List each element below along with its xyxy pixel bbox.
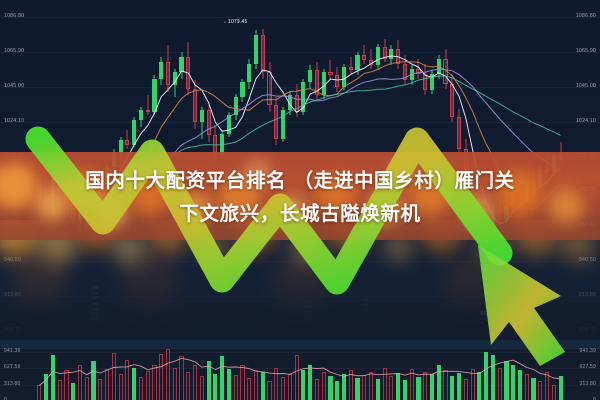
candle-body [362, 55, 366, 60]
volume-bar [511, 365, 515, 400]
candle-body [193, 89, 197, 122]
high-price-annotation: ←1079.45 [223, 19, 248, 25]
headline-line-2: 下文旅兴，长城古隘焕新机 [0, 197, 600, 230]
price-tick-right: 1045.00 [576, 84, 596, 89]
volume-bar [207, 361, 211, 400]
price-tick-right: 1065.90 [576, 49, 596, 54]
candle-body [349, 67, 353, 70]
candle-body [261, 35, 265, 72]
gridline [0, 352, 600, 353]
volume-bar [51, 355, 55, 400]
ghost-axis-left: 1,201,101,000,900,800,700,600,500,400,30 [82, 286, 98, 338]
candle-body [186, 57, 190, 89]
volume-tick-right: 627.59 [580, 365, 597, 370]
volume-ma-line [0, 349, 600, 400]
candle-body [240, 82, 244, 97]
volume-bar [227, 369, 231, 400]
candle-body [383, 47, 387, 59]
stock-chart-banner-image: 1086.801065.901045.001024.101003.20982.3… [0, 0, 600, 400]
volume-bar [335, 381, 339, 400]
volume-bar [471, 369, 475, 400]
candle-body [396, 49, 400, 64]
ghost-axis-label: 0,30 [82, 333, 98, 338]
volume-bar [430, 374, 434, 400]
candle-body [389, 49, 393, 59]
candle-body [295, 95, 299, 112]
volume-bar [477, 372, 481, 400]
headline-line-1: 国内十大配资平台排名 （走进中国乡村）雁门关 [0, 164, 600, 197]
volume-bar [484, 352, 488, 400]
volume-bar [538, 381, 542, 400]
volume-bar [58, 380, 62, 400]
volume-bar [139, 377, 143, 400]
volume-bar [200, 376, 204, 400]
volume-bar [301, 370, 305, 400]
price-tick-right: 919.60 [579, 293, 596, 298]
candle-body [132, 120, 136, 145]
volume-bar [125, 360, 129, 400]
volume-bar [328, 376, 332, 400]
price-tick-left: 1024.10 [4, 119, 24, 124]
volume-bar [64, 370, 68, 400]
ghost-axis-middle-2: 0,900,800,70 [352, 298, 368, 314]
volume-bar [78, 365, 82, 400]
volume-bar [518, 370, 522, 400]
candle-body [443, 59, 447, 84]
volume-bar [457, 373, 461, 400]
volume-bar [186, 372, 190, 400]
candle-body [315, 70, 319, 95]
candle-body [247, 64, 251, 82]
gridline [0, 17, 600, 18]
volume-bar [349, 370, 353, 400]
volume-bar [91, 361, 95, 400]
volume-bar [193, 365, 197, 400]
volume-bar [179, 356, 183, 400]
candle-body [119, 140, 123, 152]
volume-bar [132, 368, 136, 400]
candle-wick [371, 49, 372, 69]
volume-bar [355, 378, 359, 400]
gridline [0, 385, 600, 386]
ghost-axis-label: 0,90 [296, 310, 312, 315]
candle-body [200, 110, 204, 122]
volume-chart-panel: 941.39627.59313.800 941.39627.59313.800 [0, 348, 600, 400]
candle-body [166, 62, 170, 85]
volume-bar [166, 349, 170, 400]
volume-bar [112, 353, 116, 400]
candle-wick [330, 60, 331, 78]
volume-bar [119, 374, 123, 400]
candle-body [227, 115, 231, 133]
volume-bar [552, 385, 556, 400]
volume-bar [71, 383, 75, 400]
volume-bar [545, 372, 549, 400]
candle-body [450, 84, 454, 117]
price-tick-right: 898.70 [579, 328, 596, 333]
volume-bar [247, 378, 251, 400]
volume-bar [525, 374, 529, 400]
volume-tick-left: 627.59 [4, 365, 21, 370]
volume-bar [308, 365, 312, 400]
volume-bar [437, 365, 441, 400]
volume-tick-left: 941.39 [4, 349, 21, 354]
volume-bar [98, 379, 102, 400]
volume-bar [44, 374, 48, 400]
volume-tick-left: 313.80 [4, 382, 21, 387]
volume-bar [389, 376, 393, 400]
volume-bar [254, 370, 258, 400]
gridline [0, 368, 600, 369]
candle-body [335, 75, 339, 87]
price-tick-left: 898.70 [4, 328, 21, 333]
candle-body [430, 74, 434, 91]
price-tick-right: 940.50 [579, 258, 596, 263]
candle-body [369, 60, 373, 65]
candle-body [423, 74, 427, 91]
candle-body [179, 57, 183, 72]
volume-bar [322, 372, 326, 400]
gridline [0, 122, 600, 123]
volume-tick-right: 941.39 [580, 349, 597, 354]
low-price-annotation: 912.28 → [480, 311, 503, 317]
price-tick-left: 1065.90 [4, 49, 24, 54]
volume-tick-right: 313.80 [580, 382, 597, 387]
candle-body [437, 59, 441, 74]
gridline [0, 52, 600, 53]
volume-bar [504, 361, 508, 400]
volume-bar [261, 372, 265, 400]
volume-bar [369, 372, 373, 400]
candle-body [403, 64, 407, 81]
candle-wick [350, 57, 351, 74]
candle-body [342, 67, 346, 87]
volume-bar [443, 370, 447, 400]
candle-body [301, 82, 305, 112]
volume-bar [315, 379, 319, 400]
volume-bar [491, 355, 495, 400]
volume-bar [152, 365, 156, 400]
volume-bar [423, 372, 427, 400]
gridline [0, 87, 600, 88]
candle-body [328, 72, 332, 75]
price-tick-left: 1045.00 [4, 84, 24, 89]
gridline [0, 261, 600, 262]
candle-body [159, 62, 163, 79]
candle-body [173, 72, 177, 85]
candle-body [322, 72, 326, 95]
candle-body [308, 70, 312, 82]
volume-bar [559, 376, 563, 400]
volume-bar [295, 355, 299, 400]
volume-bar [159, 354, 163, 400]
candle-body [410, 69, 414, 81]
candle-body [288, 95, 292, 110]
price-tick-left: 919.60 [4, 293, 21, 298]
price-tick-right: 1086.80 [576, 14, 596, 19]
volume-bar [267, 381, 271, 400]
volume-bar [416, 377, 420, 400]
headline-text: 国内十大配资平台排名 （走进中国乡村）雁门关 下文旅兴，长城古隘焕新机 [0, 164, 600, 230]
volume-bar [376, 379, 380, 400]
candle-body [281, 110, 285, 138]
candle-body [274, 105, 278, 138]
candle-body [267, 72, 271, 105]
candle-body [355, 55, 359, 70]
price-tick-right: 1024.10 [576, 119, 596, 124]
candle-wick [147, 95, 148, 115]
volume-bar [173, 368, 177, 400]
volume-bar [342, 374, 346, 400]
volume-bar [37, 385, 41, 400]
candle-body [146, 110, 150, 112]
volume-bar [220, 356, 224, 400]
candle-body [125, 140, 129, 145]
volume-bar [146, 371, 150, 400]
volume-bar [383, 368, 387, 400]
candle-body [376, 47, 380, 65]
volume-bar [403, 380, 407, 400]
candle-body [254, 35, 258, 63]
ghost-axis-middle: 1,101,000,90 [296, 300, 312, 316]
candle-body [207, 110, 211, 135]
volume-bar [498, 368, 502, 400]
price-tick-left: 940.50 [4, 258, 21, 263]
volume-bar [410, 369, 414, 400]
volume-bar [281, 377, 285, 400]
volume-bar [464, 379, 468, 400]
volume-bar [274, 368, 278, 400]
candle-body [152, 79, 156, 112]
volume-bar [234, 375, 238, 400]
price-tick-left: 1086.80 [4, 14, 24, 19]
volume-bar [531, 378, 535, 400]
candle-body [457, 117, 461, 149]
volume-bar [105, 369, 109, 400]
volume-bar [240, 365, 244, 400]
candle-body [416, 69, 420, 74]
volume-bar [362, 375, 366, 400]
candle-body [139, 110, 143, 120]
ghost-axis-label: 0,70 [352, 308, 368, 313]
candle-body [234, 97, 238, 115]
volume-bar [396, 373, 400, 400]
volume-bar [85, 377, 89, 400]
volume-bar [450, 376, 454, 400]
volume-bar [213, 374, 217, 400]
volume-bar [288, 374, 292, 400]
